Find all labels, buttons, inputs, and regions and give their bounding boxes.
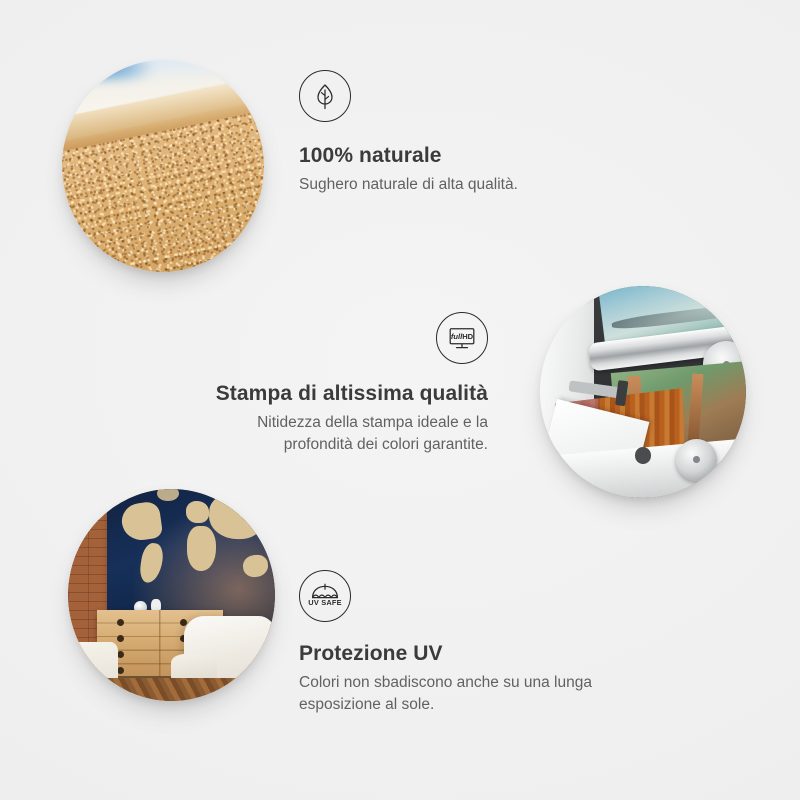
feature-natural: 100% naturale Sughero naturale di alta q… <box>299 70 518 196</box>
umbrella-uv-safe-icon: UV SAFE <box>299 570 351 622</box>
drawer-knob <box>117 667 124 674</box>
map-north-america <box>119 500 163 543</box>
feature-uv-protection: UV SAFE Protezione UV Colori non sbadisc… <box>299 570 669 716</box>
map-asia <box>208 493 265 541</box>
drawer-knob <box>117 619 124 626</box>
features-panel: 100% naturale Sughero naturale di alta q… <box>0 0 800 800</box>
feature-title: 100% naturale <box>299 144 518 168</box>
feature-title: Stampa di altissima qualità <box>196 382 488 406</box>
feature-description: Sughero naturale di alta qualità. <box>299 174 518 196</box>
drawer-knob <box>117 651 124 658</box>
fullhd-monitor-icon: fullHD <box>436 312 488 364</box>
room-world-map-image <box>68 489 275 701</box>
map-greenland <box>157 489 178 501</box>
map-south-america <box>138 542 165 585</box>
cork-board-image <box>62 60 264 272</box>
feature-description: Nitidezza della stampa ideale e la profo… <box>196 412 488 456</box>
uv-safe-label: UV SAFE <box>308 598 341 607</box>
map-africa <box>187 526 215 571</box>
feature-title: Protezione UV <box>299 642 669 666</box>
map-australia <box>242 553 269 577</box>
feature-description: Colori non sbadiscono anche su una lunga… <box>299 672 669 716</box>
svg-text:fullHD: fullHD <box>451 332 474 341</box>
wooden-floor <box>68 678 275 701</box>
map-europe <box>186 501 209 523</box>
drawer-knob <box>117 635 124 642</box>
leaf-icon <box>299 70 351 122</box>
printer-wheel-bottom <box>676 439 717 481</box>
world-map-wall-art <box>107 489 275 627</box>
feature-print-quality: fullHD Stampa di altissima qualità Nitid… <box>196 312 488 456</box>
fullhd-label-bold: HD <box>462 332 473 341</box>
printing-machine-image <box>540 286 746 498</box>
